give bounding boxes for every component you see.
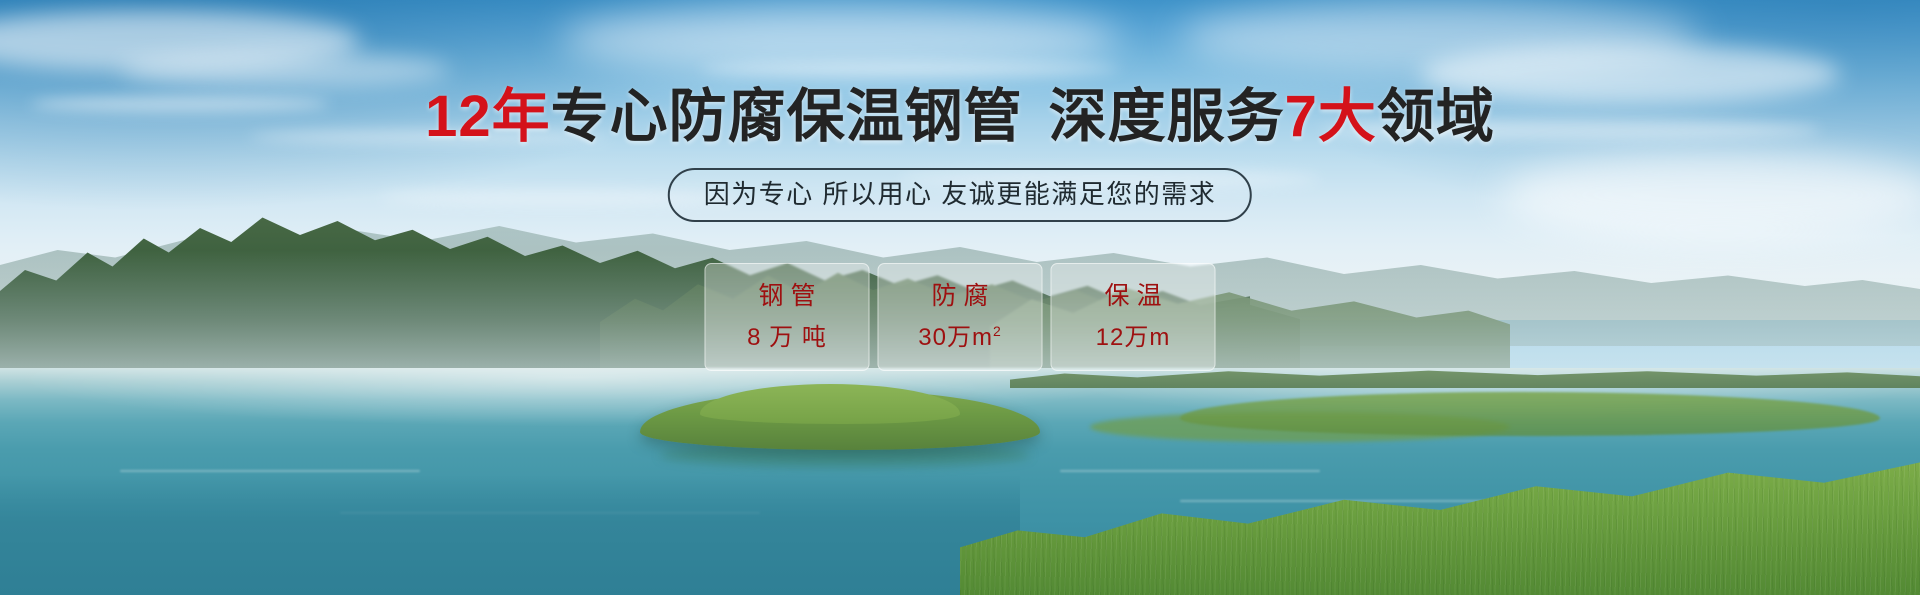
stat-card-value: 30万m2 — [918, 318, 1001, 351]
stat-card-title: 保温 — [1097, 283, 1168, 309]
stat-card-value-text: 8 万 吨 — [747, 324, 827, 351]
headline-main-text: 专心防腐保温钢管 — [551, 84, 1023, 149]
stat-card-anticorrosion[interactable]: 防腐 30万m2 — [878, 263, 1043, 371]
cloud-wisp — [700, 62, 1120, 76]
water-ripple — [120, 470, 420, 472]
headline-fields-highlight: 7大 — [1285, 84, 1377, 149]
headline: 12年专心防腐保温钢管深度服务7大领域 — [0, 86, 1920, 148]
stat-cards: 钢管 8 万 吨 防腐 30万m2 保温 12万m — [705, 263, 1216, 371]
headline-years-highlight: 12年 — [425, 84, 551, 149]
stat-card-value: 8 万 吨 — [747, 318, 827, 351]
stat-card-value-text: 30万m — [918, 324, 993, 351]
headline-fields-text: 领域 — [1377, 84, 1495, 149]
stat-card-title: 钢管 — [751, 283, 822, 309]
cloud-shape — [1500, 150, 1920, 240]
foreground-water — [0, 475, 1020, 595]
stat-card-value-text: 12万m — [1096, 324, 1171, 351]
headline-service-text: 深度服务 — [1049, 84, 1285, 149]
stat-card-unit-sup: 2 — [993, 323, 1002, 339]
subtitle-pill: 因为专心 所以用心 友诚更能满足您的需求 — [668, 168, 1252, 222]
water-ripple — [1060, 470, 1320, 472]
promo-banner: 12年专心防腐保温钢管深度服务7大领域 因为专心 所以用心 友诚更能满足您的需求… — [0, 0, 1920, 595]
stat-card-title: 防腐 — [924, 283, 995, 309]
stat-card-insulation[interactable]: 保温 12万m — [1051, 263, 1216, 371]
stat-card-value: 12万m — [1096, 318, 1171, 351]
cloud-shape — [120, 52, 450, 88]
stat-card-steel-pipe[interactable]: 钢管 8 万 吨 — [705, 263, 870, 371]
